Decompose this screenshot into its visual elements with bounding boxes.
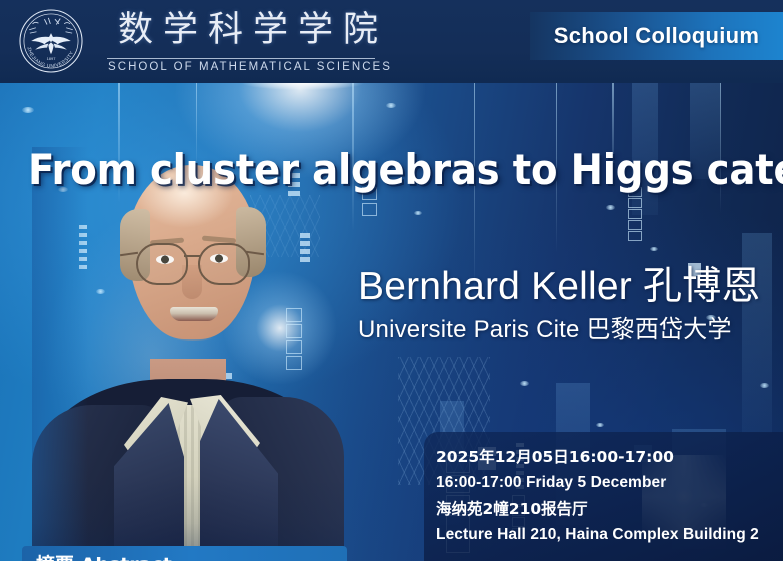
- digital-square-outline: [628, 209, 642, 219]
- bokeh-dot: [414, 211, 422, 215]
- school-name-zh: 数学科学学院: [118, 8, 388, 52]
- bokeh-dot: [520, 381, 529, 386]
- svg-text:1897: 1897: [47, 56, 56, 61]
- event-datetime-zh: 2025年12月05日16:00-17:00: [436, 444, 783, 470]
- event-datetime-en: 16:00-17:00 Friday 5 December: [436, 470, 783, 496]
- digital-square-outline: [362, 203, 377, 216]
- series-banner: School Colloquium: [530, 12, 783, 60]
- talk-title: From cluster algebras to Higgs categorie…: [28, 144, 783, 196]
- speaker-block: Bernhard Keller 孔博恩 Universite Paris Cit…: [358, 263, 778, 347]
- event-venue-en: Lecture Hall 210, Haina Complex Building…: [436, 522, 783, 548]
- glasses-bridge: [184, 255, 200, 257]
- abstract-section-banner: 摘要 Abstract: [22, 546, 347, 561]
- header-divider: [107, 58, 375, 59]
- abstract-heading: 摘要 Abstract: [36, 550, 172, 561]
- series-label: School Colloquium: [530, 12, 783, 60]
- event-details-panel: 2025年12月05日16:00-17:00 16:00-17:00 Frida…: [424, 432, 783, 561]
- zhejiang-university-seal-icon: ZHEJIANG UNIVERSITY 1897: [18, 8, 84, 74]
- glasses-icon: [128, 243, 256, 287]
- poster-header: ZHEJIANG UNIVERSITY 1897 数学科学学院 SCHOOL O…: [0, 0, 783, 83]
- digital-square-outline: [628, 220, 642, 230]
- digital-square-outline: [628, 231, 642, 241]
- glasses-lens-right: [198, 243, 250, 285]
- bokeh-dot: [606, 205, 615, 210]
- bokeh-dot: [386, 103, 396, 108]
- event-venue-zh: 海纳苑2幢210报告厅: [436, 496, 783, 522]
- photo-chin: [164, 323, 222, 341]
- speaker-photo: [32, 147, 344, 561]
- school-name-en: SCHOOL OF MATHEMATICAL SCIENCES: [108, 61, 392, 73]
- photo-mouth: [170, 307, 218, 321]
- bokeh-dot: [596, 423, 604, 427]
- glasses-lens-left: [136, 243, 188, 285]
- speaker-affiliation: Universite Paris Cite 巴黎西岱大学: [358, 313, 778, 347]
- digital-square-outline: [628, 198, 642, 208]
- colloquium-poster: From cluster algebras to Higgs categorie…: [0, 0, 783, 561]
- top-glow-streak: [218, 83, 388, 93]
- bokeh-dot: [22, 107, 34, 113]
- bokeh-dot: [650, 247, 658, 251]
- speaker-name: Bernhard Keller 孔博恩: [358, 263, 778, 311]
